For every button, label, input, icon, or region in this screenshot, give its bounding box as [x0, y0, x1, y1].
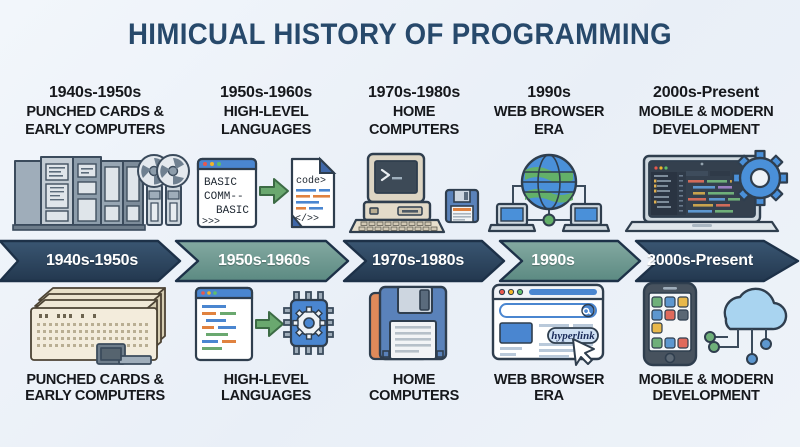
- code-editor-to-cpu-chip-icon: [190, 281, 342, 367]
- era-label: 1990s: [486, 84, 612, 102]
- column-footer: HOME COMPUTERS: [344, 372, 484, 404]
- timeline-column-1940s: 1940s-1950s PUNCHED CARDS & EARLY COMPUT…: [2, 0, 188, 447]
- timeline-arrow-band: [0, 239, 800, 283]
- laptop-left-icon: [489, 204, 535, 231]
- footer-label-line2: LANGUAGES: [190, 388, 342, 404]
- column-footer: PUNCHED CARDS & EARLY COMPUTERS: [2, 372, 188, 404]
- topic-label-line1: HIGH-LEVEL: [190, 104, 342, 120]
- footer-label-line1: HIGH-LEVEL: [190, 372, 342, 388]
- column-heading: 1940s-1950s PUNCHED CARDS & EARLY COMPUT…: [2, 84, 188, 138]
- topic-label-line1: HOME: [344, 104, 484, 120]
- topic-label-line2: DEVELOPMENT: [614, 122, 798, 138]
- smartphone-cloud-icon: [614, 281, 798, 367]
- timeline-column-2000s: 2000s-Present MOBILE & MODERN DEVELOPMEN…: [614, 0, 798, 447]
- code-file-label-top: code>: [296, 175, 326, 187]
- timeline-column-1990s: 1990s WEB BROWSER ERA: [486, 0, 612, 447]
- topic-label-line1: WEB BROWSER: [486, 104, 612, 120]
- mainframe-and-tape-reels-icon: [2, 150, 188, 236]
- terminal-prompt: >>>: [202, 217, 220, 228]
- topic-label-line2: ERA: [486, 122, 612, 138]
- topic-label-line1: MOBILE & MODERN: [614, 104, 798, 120]
- transform-arrow-icon: [256, 312, 283, 336]
- topic-label-line1: PUNCHED CARDS &: [2, 104, 188, 120]
- terminal-line-2: COMM--: [204, 191, 244, 203]
- floppy-disk-icon: [344, 281, 484, 367]
- column-footer: WEB BROWSER ERA: [486, 372, 612, 404]
- floppy-disk-small-icon: [446, 190, 478, 222]
- footer-label-line2: DEVELOPMENT: [614, 388, 798, 404]
- footer-label-line1: PUNCHED CARDS &: [2, 372, 188, 388]
- era-label: 1940s-1950s: [2, 84, 188, 102]
- browser-window-hyperlink-icon: hyperlink: [486, 281, 612, 367]
- footer-label-line2: ERA: [486, 388, 612, 404]
- topic-label-line2: EARLY COMPUTERS: [2, 122, 188, 138]
- column-heading: 1950s-1960s HIGH-LEVEL LANGUAGES: [190, 84, 342, 138]
- footer-label-line1: HOME: [344, 372, 484, 388]
- code-file-label-bottom: </>>: [295, 213, 319, 225]
- column-heading: 1990s WEB BROWSER ERA: [486, 84, 612, 138]
- timeline-column-1970s: 1970s-1980s HOME COMPUTERS: [344, 0, 484, 447]
- terminal-line-1: BASIC: [204, 177, 237, 189]
- topic-label-line2: LANGUAGES: [190, 122, 342, 138]
- footer-label-line1: WEB BROWSER: [486, 372, 612, 388]
- transform-arrow-icon: [260, 179, 288, 203]
- infographic-canvas: HIMICUAL HISTORY OF PROGRAMMING 1940s-19…: [0, 0, 800, 447]
- column-footer: HIGH-LEVEL LANGUAGES: [190, 372, 342, 404]
- timeline-chevron-4: [500, 241, 640, 281]
- laptop-ide-gear-icon: [614, 150, 798, 236]
- column-footer: MOBILE & MODERN DEVELOPMENT: [614, 372, 798, 404]
- basic-terminal-to-code-file-icon: BASIC COMM-- BASIC >>> code>: [190, 150, 342, 236]
- column-heading: 1970s-1980s HOME COMPUTERS: [344, 84, 484, 138]
- laptop-right-icon: [563, 204, 609, 231]
- gear-icon: [733, 151, 787, 205]
- footer-label-line2: EARLY COMPUTERS: [2, 388, 188, 404]
- timeline-chevron-5: [636, 241, 798, 281]
- cpu-chip-icon: [284, 292, 333, 354]
- era-label: 1970s-1980s: [344, 84, 484, 102]
- desktop-computer-and-floppy-icon: [344, 150, 484, 236]
- punched-card-stack-icon: [2, 281, 188, 367]
- era-label: 1950s-1960s: [190, 84, 342, 102]
- topic-label-line2: COMPUTERS: [344, 122, 484, 138]
- footer-label-line2: COMPUTERS: [344, 388, 484, 404]
- timeline-chevron-1: [0, 241, 180, 281]
- footer-label-line1: MOBILE & MODERN: [614, 372, 798, 388]
- globe-network-laptops-icon: [486, 150, 612, 236]
- timeline-chevron-2: [176, 241, 348, 281]
- era-label: 2000s-Present: [614, 84, 798, 102]
- terminal-line-3: BASIC: [216, 205, 249, 217]
- column-heading: 2000s-Present MOBILE & MODERN DEVELOPMEN…: [614, 84, 798, 138]
- timeline-column-1950s: 1950s-1960s HIGH-LEVEL LANGUAGES BASIC C…: [190, 0, 342, 447]
- timeline-chevron-3: [344, 241, 504, 281]
